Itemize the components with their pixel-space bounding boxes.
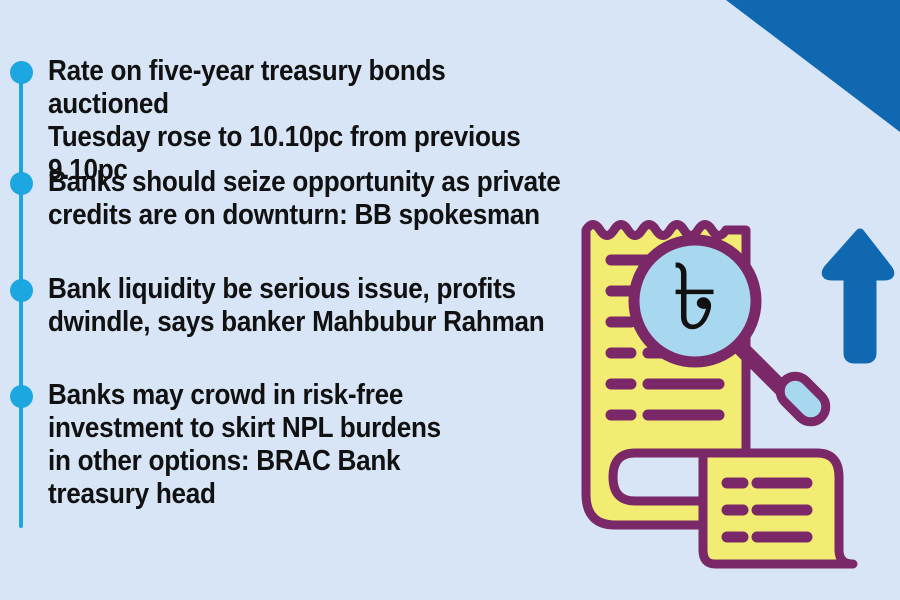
timeline-dot-4 [10,385,33,408]
up-arrow-icon [826,233,890,359]
timeline-dot-3 [10,279,33,302]
bullet-item-3: Bank liquidity be serious issue, profits… [48,273,544,339]
corner-wedge [720,0,900,132]
up-arrow-shape [826,233,890,359]
receipt-magnifier-arrow-illustration: ৳ [575,195,900,600]
taka-currency-symbol: ৳ [672,247,718,349]
timeline-rail [0,0,48,600]
bullet-item-4: Banks may crowd in risk-free investment … [48,379,441,511]
bullet-list: Rate on five-year treasury bonds auction… [48,0,628,600]
timeline-dot-1 [10,61,33,84]
infographic-canvas: Rate on five-year treasury bonds auction… [0,0,900,600]
timeline-dot-2 [10,172,33,195]
receipt-lower-panel [703,453,853,564]
bullet-item-2: Banks should seize opportunity as privat… [48,166,561,232]
magnifier-grip [774,370,832,428]
